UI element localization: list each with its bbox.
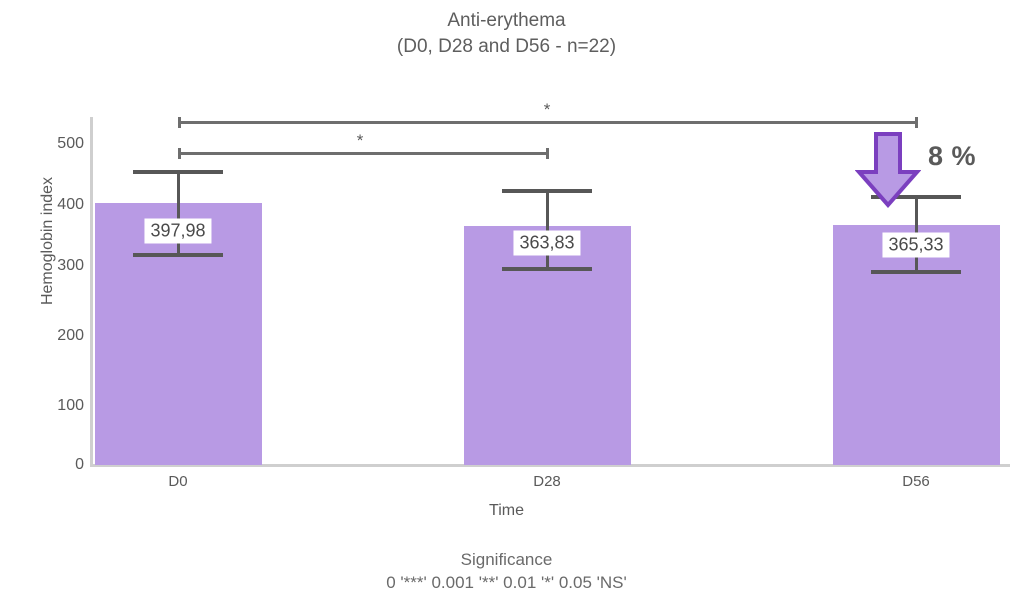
footer-note: 0 '***' 0.001 '**' 0.01 '*' 0.05 'NS' xyxy=(0,571,1013,594)
error-bar-cap-upper-d28 xyxy=(502,189,592,193)
chart-title: Anti-erythema xyxy=(0,8,1013,34)
x-tick-d0: D0 xyxy=(118,473,238,490)
y-tick-400: 400 xyxy=(18,196,84,214)
percent-change-label: 8 % xyxy=(928,141,976,172)
significance-tick-right-2 xyxy=(546,148,549,159)
chart-container: Anti-erythema (D0, D28 and D56 - n=22) H… xyxy=(0,0,1013,600)
x-tick-d28: D28 xyxy=(487,473,607,490)
y-tick-200: 200 xyxy=(18,327,84,345)
chart-title-block: Anti-erythema (D0, D28 and D56 - n=22) xyxy=(0,8,1013,60)
significance-tick-left-1 xyxy=(178,117,181,128)
chart-subtitle: (D0, D28 and D56 - n=22) xyxy=(0,34,1013,60)
significance-tick-right-1 xyxy=(915,117,918,128)
y-tick-0: 0 xyxy=(18,456,84,474)
value-label-d28: 363,83 xyxy=(513,231,580,256)
error-bar-cap-lower-d56 xyxy=(871,270,961,274)
significance-tick-left-2 xyxy=(178,148,181,159)
error-bar-cap-lower-d28 xyxy=(502,267,592,271)
y-tick-500: 500 xyxy=(18,135,84,153)
error-bar-cap-upper-d0 xyxy=(133,170,223,174)
significance-star-d0-d28: * xyxy=(357,131,364,151)
significance-star-d0-d56: * xyxy=(544,100,551,120)
y-axis-line xyxy=(90,117,93,466)
x-tick-d56: D56 xyxy=(856,473,976,490)
error-bar-cap-lower-d0 xyxy=(133,253,223,257)
footer-title: Significance xyxy=(0,548,1013,571)
footer-block: Significance 0 '***' 0.001 '**' 0.01 '*'… xyxy=(0,548,1013,594)
value-label-d0: 397,98 xyxy=(144,219,211,244)
value-label-d56: 365,33 xyxy=(882,233,949,258)
y-tick-300: 300 xyxy=(18,257,84,275)
significance-bracket-d0-d56 xyxy=(178,121,917,124)
error-bar-line-d28 xyxy=(546,190,549,269)
x-axis-title: Time xyxy=(0,502,1013,520)
down-arrow-icon xyxy=(855,132,921,208)
significance-bracket-d0-d28 xyxy=(178,152,548,155)
y-tick-100: 100 xyxy=(18,397,84,415)
